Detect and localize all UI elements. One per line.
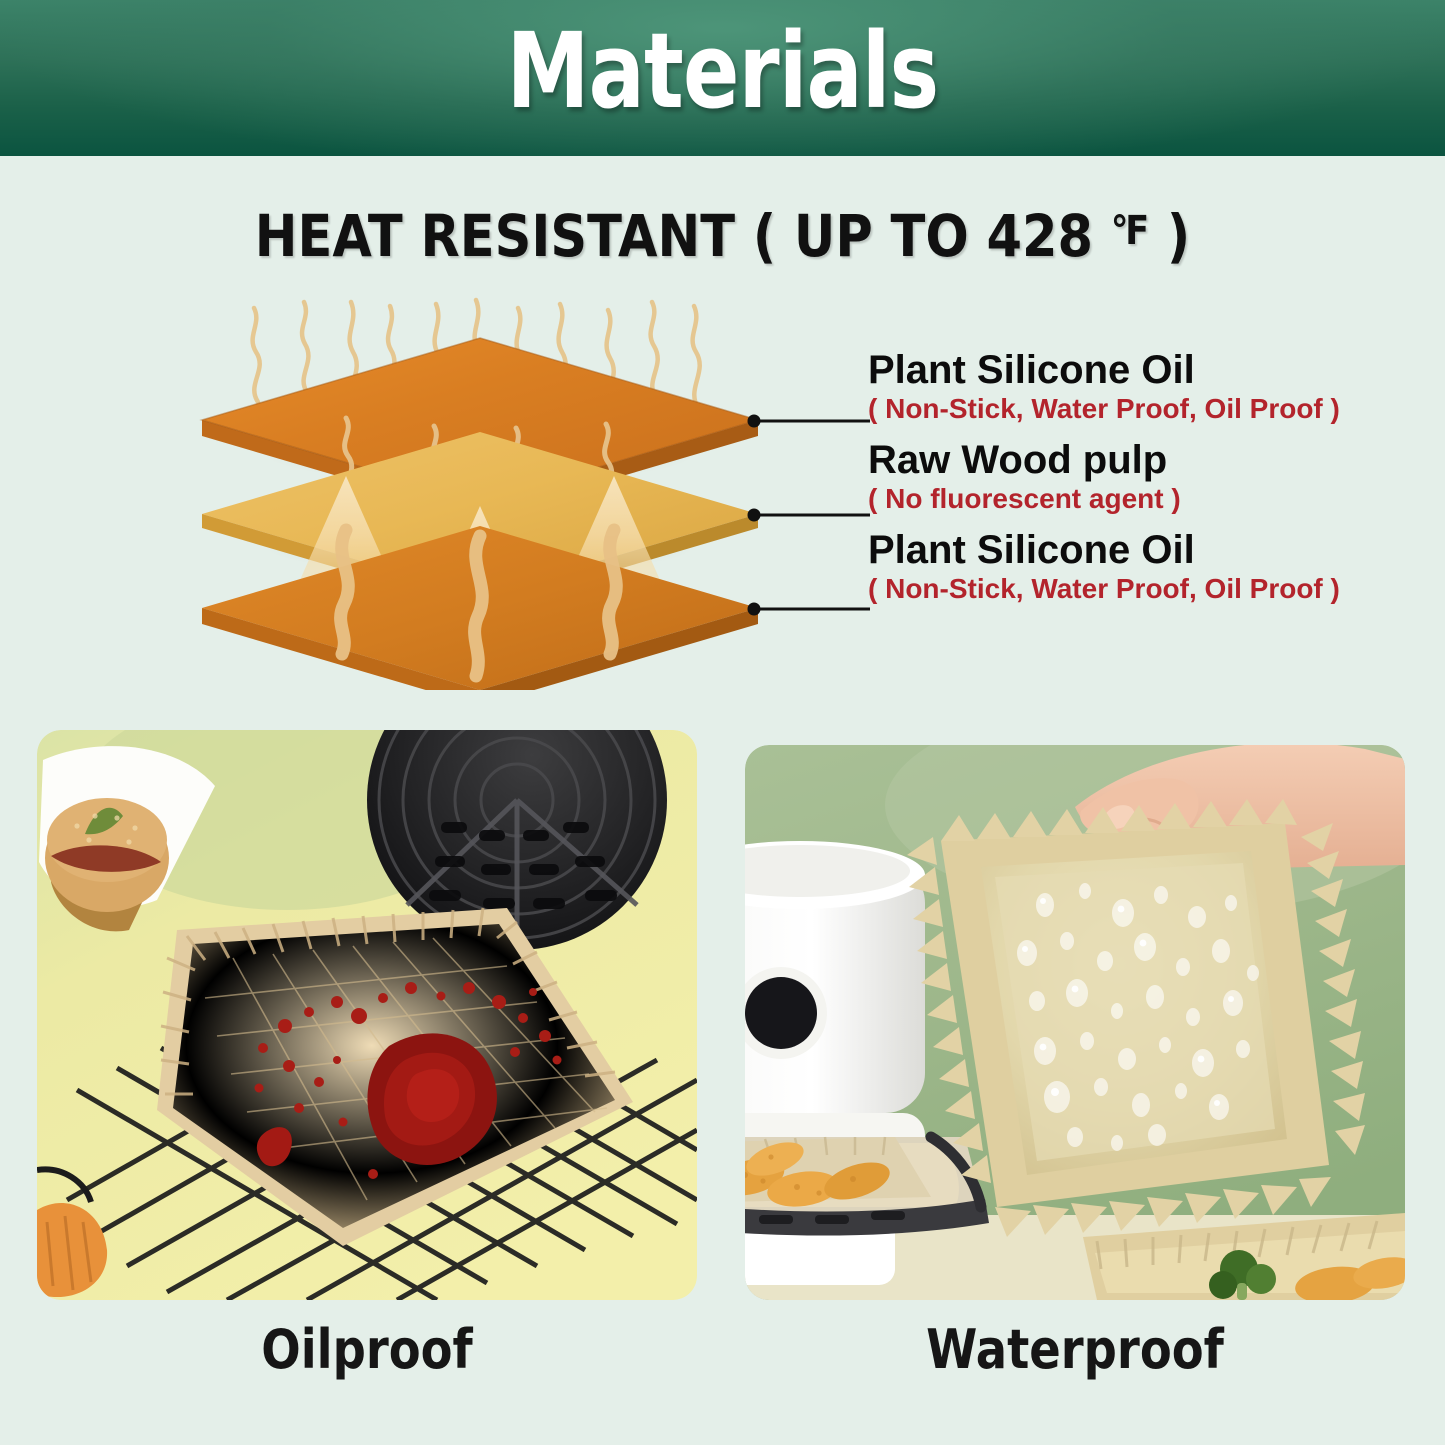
degree-fahrenheit-symbol: ℉ — [1111, 208, 1149, 254]
heat-resistant-heading: HEAT RESISTANT ( UP TO 428 ℉ ) — [87, 196, 1359, 271]
page-header: Materials — [0, 0, 1445, 156]
callout-title: Raw Wood pulp — [868, 438, 1181, 482]
photo-waterproof — [745, 745, 1405, 1300]
caption-oilproof: Oilproof — [83, 1318, 651, 1382]
caption-waterproof: Waterproof — [791, 1318, 1359, 1382]
callout-leader-lines — [748, 400, 878, 700]
heat-resistant-heading-tail: ) — [1149, 202, 1190, 270]
callout-raw-wood-pulp: Raw Wood pulp ( No fluorescent agent ) — [868, 438, 1181, 516]
callout-title: Plant Silicone Oil — [868, 528, 1340, 572]
page-title: Materials — [145, 6, 1301, 136]
callout-plant-silicone-oil-bottom: Plant Silicone Oil ( Non-Stick, Water Pr… — [868, 528, 1340, 606]
heat-resistant-heading-main: HEAT RESISTANT ( UP TO 428 — [255, 202, 1111, 270]
callout-subtitle: ( Non-Stick, Water Proof, Oil Proof ) — [868, 572, 1340, 606]
callout-subtitle: ( Non-Stick, Water Proof, Oil Proof ) — [868, 392, 1340, 426]
callout-title: Plant Silicone Oil — [868, 348, 1340, 392]
callout-subtitle: ( No fluorescent agent ) — [868, 482, 1181, 516]
callout-plant-silicone-oil-top: Plant Silicone Oil ( Non-Stick, Water Pr… — [868, 348, 1340, 426]
layer-diagram — [150, 280, 850, 690]
photo-oilproof — [37, 730, 697, 1300]
